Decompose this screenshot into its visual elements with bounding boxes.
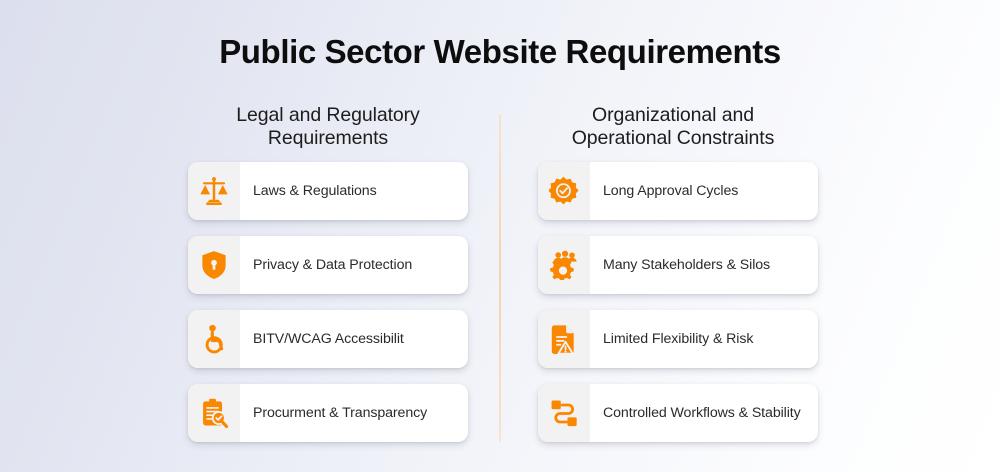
shield-lock-icon (188, 236, 240, 294)
card-controlled-workflows-stability[interactable]: Controlled Workflows & Stability (538, 384, 818, 442)
column-heading-right-line2: Operational Constraints (503, 127, 843, 150)
column-heading-right-line1: Organizational and (503, 104, 843, 127)
card-limited-flexibility-risk[interactable]: Limited Flexibility & Risk (538, 310, 818, 368)
column-divider (499, 114, 501, 442)
card-bitv-wcag-accessibility[interactable]: BITV/WCAG Accessibilit (188, 310, 468, 368)
card-label: Limited Flexibility & Risk (590, 310, 818, 368)
column-heading-left-line2: Requirements (158, 127, 498, 150)
card-label: Privacy & Data Protection (240, 236, 468, 294)
card-laws-regulations[interactable]: Laws & Regulations (188, 162, 468, 220)
column-heading-left: Legal and Regulatory Requirements (158, 104, 498, 150)
column-legal-regulatory: Legal and Regulatory Requirements (158, 104, 498, 150)
card-label: Long Approval Cycles (590, 162, 818, 220)
card-label: Laws & Regulations (240, 162, 468, 220)
document-warning-icon (538, 310, 590, 368)
card-many-stakeholders-silos[interactable]: Many Stakeholders & Silos (538, 236, 818, 294)
column-heading-right: Organizational and Operational Constrain… (503, 104, 843, 150)
card-long-approval-cycles[interactable]: Long Approval Cycles (538, 162, 818, 220)
infographic-canvas: Public Sector Website Requirements Legal… (0, 0, 1000, 472)
card-label: Many Stakeholders & Silos (590, 236, 818, 294)
page-title: Public Sector Website Requirements (0, 33, 1000, 71)
column-heading-left-line1: Legal and Regulatory (158, 104, 498, 127)
column-organizational-operational: Organizational and Operational Constrain… (503, 104, 843, 150)
wheelchair-accessibility-icon (188, 310, 240, 368)
card-privacy-data-protection[interactable]: Privacy & Data Protection (188, 236, 468, 294)
card-label: Controlled Workflows & Stability (590, 384, 818, 442)
card-procurement-transparency[interactable]: Procurment & Transparency (188, 384, 468, 442)
gear-people-icon (538, 236, 590, 294)
card-list-organizational-operational: Long Approval Cycles Many Stakeholders &… (538, 162, 818, 458)
workflow-nodes-icon (538, 384, 590, 442)
badge-check-icon (538, 162, 590, 220)
clipboard-magnifier-icon (188, 384, 240, 442)
card-list-legal-regulatory: Laws & Regulations Privacy & Data Protec… (188, 162, 468, 458)
card-label: Procurment & Transparency (240, 384, 468, 442)
card-label: BITV/WCAG Accessibilit (240, 310, 468, 368)
scales-of-justice-icon (188, 162, 240, 220)
